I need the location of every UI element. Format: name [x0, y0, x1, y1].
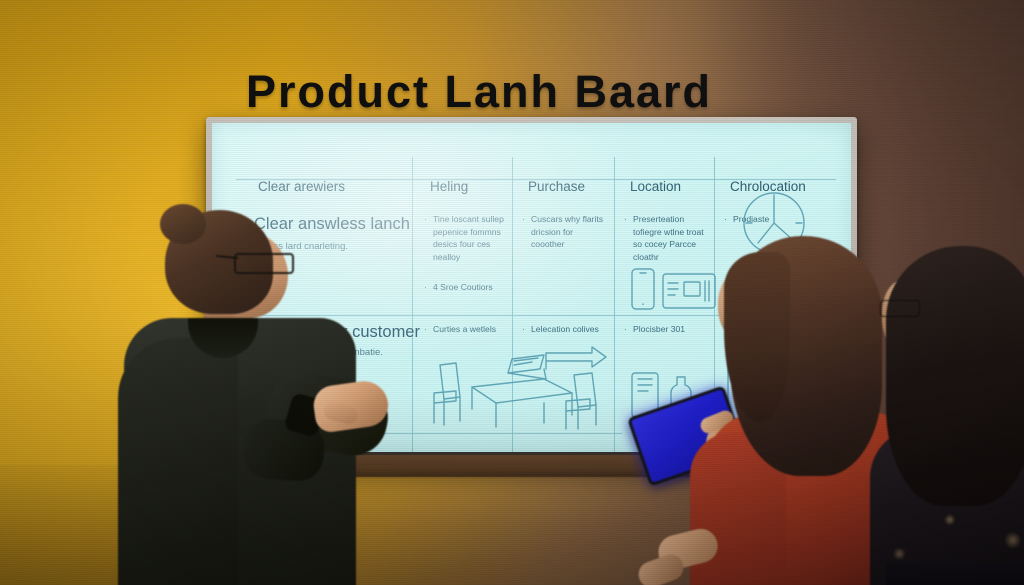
- row-2-cell-3-bullet-1: · Plocisber 301: [624, 323, 708, 336]
- woman-floral-hair: [886, 246, 1024, 506]
- bullet-dot: ·: [424, 281, 427, 294]
- meeting-room-scene: Product Lanh Baard Clear arewiers Heling…: [0, 0, 1024, 585]
- row-1-cell-1-bullet-1: · Tine loscant sullep pepenice fommns de…: [424, 213, 508, 263]
- col-divider-3: [614, 157, 615, 452]
- glasses-icon: [880, 300, 920, 317]
- row-1-cell-3-bullet-1: · Preserteation tofiegre wtlne troat so …: [624, 213, 708, 263]
- column-header-purchase: Purchase: [528, 179, 585, 194]
- bullet-text: 4 Sroe Coutiors: [424, 281, 508, 294]
- bullet-text: Curties a wetlels: [424, 323, 508, 336]
- bullet-dot: ·: [522, 213, 525, 226]
- man-hair-bun: [160, 204, 206, 244]
- column-header-clear-arewiers: Clear arewiers: [258, 179, 345, 194]
- arrow-right-icon: [544, 345, 608, 373]
- bullet-text: Lelecation colives: [522, 323, 606, 336]
- bullet-dot: ·: [724, 213, 727, 226]
- bullet-dot: ·: [424, 213, 427, 226]
- smartphone-icon: [630, 267, 656, 311]
- column-header-heling: Heling: [430, 179, 468, 194]
- bullet-text: Tine loscant sullep pepenice fommns desi…: [424, 213, 508, 263]
- attendee-woman-floral: [876, 246, 1024, 585]
- row-2-cell-2-bullet-1: · Lelecation colives: [522, 323, 606, 336]
- column-header-location: Location: [630, 179, 681, 194]
- row-2-cell-1-bullet-1: · Curties a wetlels: [424, 323, 508, 336]
- bullet-dot: ·: [424, 323, 427, 336]
- bullet-dot: ·: [522, 323, 525, 336]
- row-1-cell-2-bullet-1: · Cuscars why flarits dricsion for cooot…: [522, 213, 606, 251]
- bullet-text: Cuscars why flarits dricsion for cooothe…: [522, 213, 606, 251]
- bullet-text: Plocisber 301: [624, 323, 708, 336]
- bullet-dot: ·: [624, 323, 627, 336]
- page-title: Product Lanh Baard: [246, 66, 806, 118]
- glasses-icon: [234, 253, 294, 274]
- man-shoulder: [118, 338, 238, 585]
- bullet-text: Preserteation tofiegre wtlne troat so co…: [624, 213, 708, 263]
- bullet-dot: ·: [624, 213, 627, 226]
- row-1-cell-1-bullet-2: · 4 Sroe Coutiors: [424, 281, 508, 294]
- presenter-man: [118, 198, 418, 585]
- woman-floral-skirt: [886, 562, 1024, 585]
